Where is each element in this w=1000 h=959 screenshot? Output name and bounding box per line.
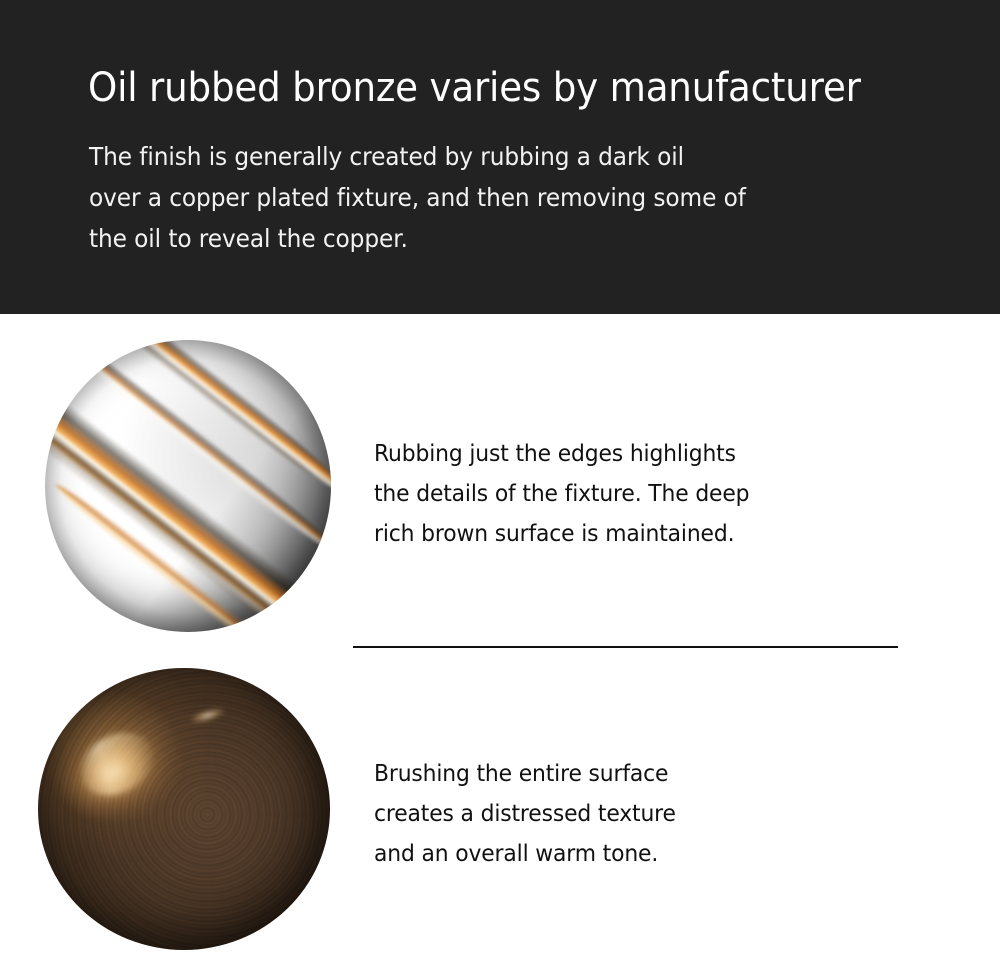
header-description: The finish is generally created by rubbi…: [89, 136, 861, 259]
copper-streak-icon: [45, 340, 331, 501]
gold-speck-icon: [189, 706, 226, 726]
content-area: Rubbing just the edges highlights the de…: [0, 314, 1000, 959]
caption-brushed-line-3: and an overall warm tone.: [374, 834, 906, 874]
gold-highlight-icon: [70, 720, 164, 807]
caption-brushed-line-1: Brushing the entire surface: [374, 754, 906, 794]
caption-edge-rubbed: Rubbing just the edges highlights the de…: [374, 434, 906, 554]
swatch-vignette: [45, 340, 331, 632]
header-description-line-3: the oil to reveal the copper.: [89, 218, 861, 259]
copper-streak-icon: [45, 340, 331, 560]
page-title: Oil rubbed bronze varies by manufacturer: [88, 66, 869, 110]
caption-edge-rubbed-line-1: Rubbing just the edges highlights: [374, 434, 906, 474]
copper-streak-icon: [51, 478, 331, 632]
header-description-line-1: The finish is generally created by rubbi…: [89, 136, 861, 177]
copper-streak-icon: [45, 424, 331, 632]
header-description-line-2: over a copper plated fixture, and then r…: [89, 177, 861, 218]
infographic-page: Oil rubbed bronze varies by manufacturer…: [0, 0, 1000, 959]
caption-edge-rubbed-line-2: the details of the fixture. The deep: [374, 474, 906, 514]
caption-edge-rubbed-line-3: rich brown surface is maintained.: [374, 514, 906, 554]
section-divider: [353, 646, 898, 648]
edge-rubbed-bronze-swatch: [45, 340, 331, 632]
caption-brushed-line-2: creates a distressed texture: [374, 794, 906, 834]
header-band: Oil rubbed bronze varies by manufacturer…: [0, 0, 1000, 314]
swatch-vignette: [38, 668, 330, 950]
fully-brushed-bronze-swatch: [38, 668, 330, 950]
caption-brushed: Brushing the entire surface creates a di…: [374, 754, 906, 874]
